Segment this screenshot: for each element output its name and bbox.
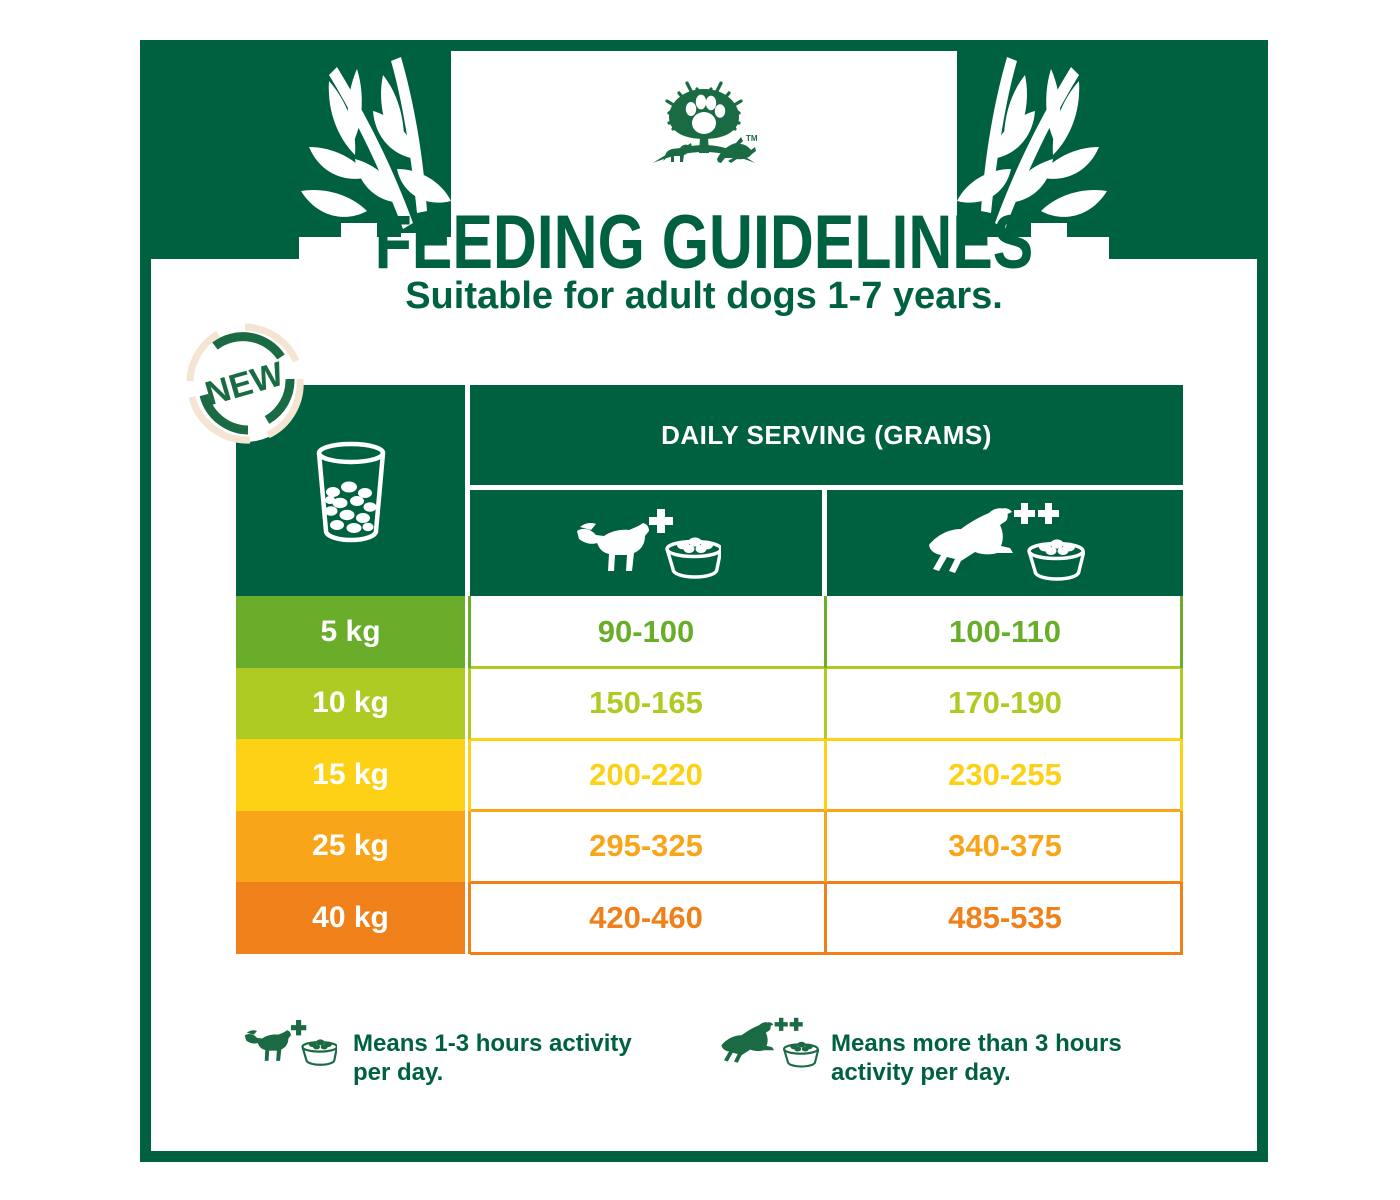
feeding-guidelines-poster: TM FEEDING GUIDELINES Suitable for adult… — [0, 0, 1400, 1200]
low-activity-value-cell: 200-220 — [470, 739, 822, 811]
trademark-symbol: TM — [746, 134, 758, 143]
column-divider — [824, 596, 827, 668]
weight-cell: 5 kg — [236, 596, 465, 668]
low-activity-value-cell: 150-165 — [470, 668, 822, 740]
poster-frame: TM FEEDING GUIDELINES Suitable for adult… — [140, 40, 1268, 1162]
value-area-left-border — [468, 596, 471, 668]
tree-paw-dogs-logo-icon: TM — [639, 73, 769, 173]
column-divider — [824, 811, 827, 883]
legend-icon-low — [241, 1003, 337, 1088]
table-right-border — [1180, 668, 1183, 740]
column-divider — [824, 882, 827, 954]
activity-column-header-high — [827, 490, 1183, 596]
page-subtitle: Suitable for adult dogs 1-7 years. — [151, 275, 1257, 318]
value-area-left-border — [468, 739, 471, 811]
page-title: FEEDING GUIDELINES — [262, 199, 1147, 286]
activity-column-header-low — [470, 490, 822, 596]
high-activity-value-cell: 100-110 — [827, 596, 1183, 668]
table-right-border — [1180, 739, 1183, 811]
column-divider — [824, 739, 827, 811]
table-row: 10 kg150-165170-190 — [236, 668, 1183, 740]
new-stamp-icon: NEW — [184, 323, 306, 445]
high-activity-value-cell: 340-375 — [827, 811, 1183, 883]
value-area-left-border — [468, 811, 471, 883]
table-header: DAILY SERVING (GRAMS) — [236, 385, 1183, 596]
table-right-border — [1180, 811, 1183, 883]
high-activity-value-cell: 230-255 — [827, 739, 1183, 811]
column-divider — [824, 668, 827, 740]
table-row: 25 kg295-325340-375 — [236, 811, 1183, 883]
high-activity-value-cell: 485-535 — [827, 882, 1183, 954]
weight-cell: 40 kg — [236, 882, 465, 954]
weight-cell: 15 kg — [236, 739, 465, 811]
brand-logo: TM — [639, 73, 769, 173]
legend-text-low: Means 1-3 hours activity per day. — [353, 1003, 653, 1088]
low-activity-value-cell: 90-100 — [470, 596, 822, 668]
new-badge: NEW — [184, 323, 306, 445]
legend-item-high-activity: Means more than 3 hours activity per day… — [719, 1003, 1131, 1090]
dog-standing-bowl-icon — [241, 1003, 337, 1083]
legend-icon-high — [719, 1003, 815, 1090]
legend: Means 1-3 hours activity per day. — [221, 1003, 1221, 1113]
legend-text-high: Means more than 3 hours activity per day… — [831, 1003, 1131, 1088]
legend-item-low-activity: Means 1-3 hours activity per day. — [241, 1003, 653, 1088]
dog-jumping-bowl-icon — [925, 501, 1085, 585]
table-body: 5 kg90-100100-11010 kg150-165170-19015 k… — [236, 596, 1183, 954]
table-row: 40 kg420-460485-535 — [236, 882, 1183, 954]
weight-cell: 10 kg — [236, 668, 465, 740]
table-right-border — [1180, 882, 1183, 954]
measuring-cup-kibble-icon — [307, 437, 395, 545]
table-row: 15 kg200-220230-255 — [236, 739, 1183, 811]
value-area-left-border — [468, 882, 471, 954]
dog-standing-bowl-icon — [571, 503, 721, 583]
table-row: 5 kg90-100100-110 — [236, 596, 1183, 668]
dog-jumping-bowl-icon — [719, 1003, 819, 1085]
low-activity-value-cell: 420-460 — [470, 882, 822, 954]
value-area-left-border — [468, 668, 471, 740]
daily-serving-header: DAILY SERVING (GRAMS) — [470, 385, 1183, 485]
table-right-border — [1180, 596, 1183, 668]
weight-cell: 25 kg — [236, 811, 465, 883]
low-activity-value-cell: 295-325 — [470, 811, 822, 883]
high-activity-value-cell: 170-190 — [827, 668, 1183, 740]
feeding-table: DAILY SERVING (GRAMS) — [236, 385, 1183, 955]
